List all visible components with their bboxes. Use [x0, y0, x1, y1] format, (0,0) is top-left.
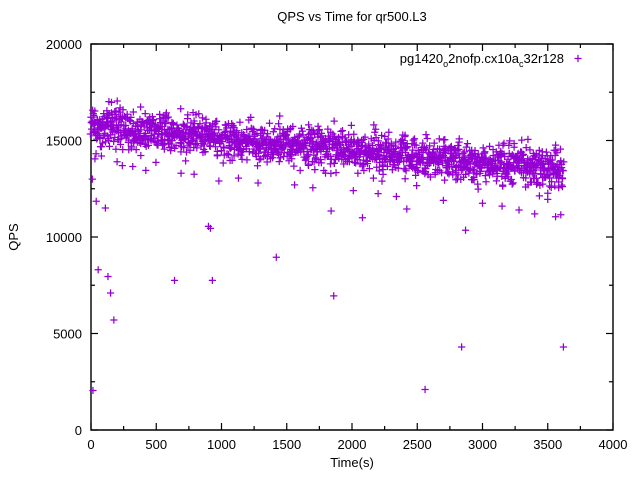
x-tick-label: 3500: [533, 437, 562, 452]
x-tick-label: 3000: [468, 437, 497, 452]
chart-background: [0, 0, 640, 480]
y-tick-label: 5000: [53, 327, 82, 342]
y-tick-label: 15000: [46, 134, 82, 149]
x-tick-label: 1000: [207, 437, 236, 452]
x-tick-label: 0: [87, 437, 94, 452]
chart-title: QPS vs Time for qr500.L3: [277, 9, 427, 24]
chart-container: 05001000150020002500300035004000 0500010…: [0, 0, 640, 480]
y-tick-label: 10000: [46, 230, 82, 245]
x-tick-label: 500: [145, 437, 167, 452]
y-axis-label: QPS: [6, 223, 21, 251]
x-tick-label: 2500: [403, 437, 432, 452]
y-tick-label: 20000: [46, 37, 82, 52]
x-tick-label: 2000: [338, 437, 367, 452]
x-tick-label: 4000: [599, 437, 628, 452]
qps-vs-time-scatter-plot: 05001000150020002500300035004000 0500010…: [0, 0, 640, 480]
x-tick-label: 1500: [272, 437, 301, 452]
y-tick-label: 0: [75, 423, 82, 438]
x-axis-label: Time(s): [330, 455, 374, 470]
